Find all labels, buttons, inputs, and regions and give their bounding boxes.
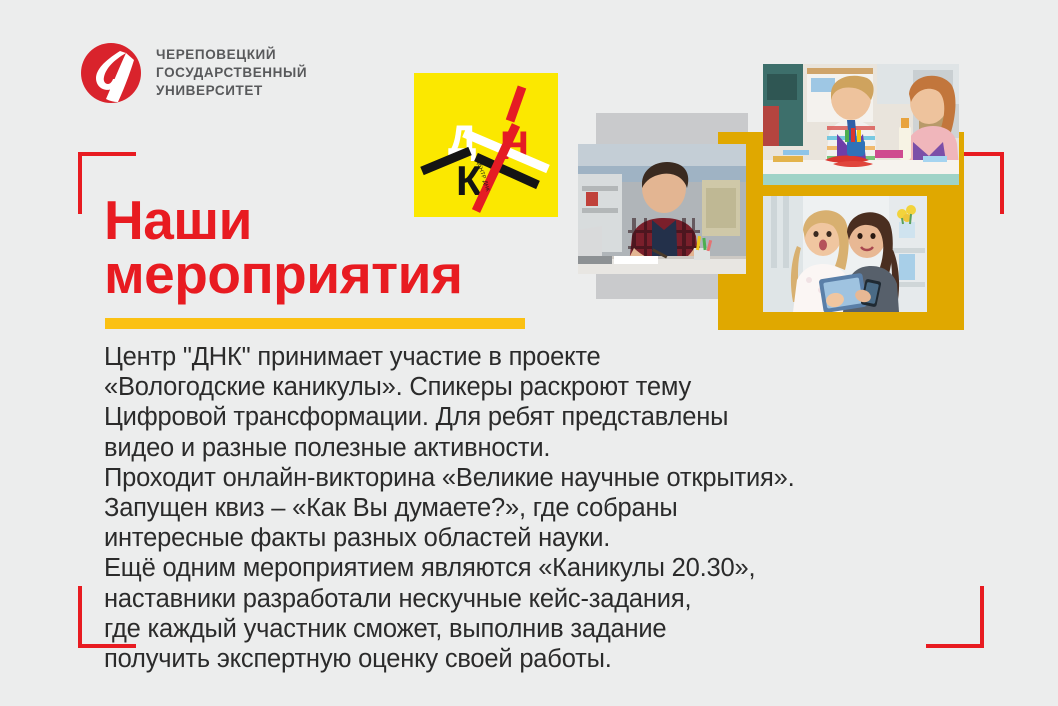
bracket-vertical-bar: [78, 586, 82, 648]
poster-canvas: ЧЕРЕПОВЕЦКИЙ ГОСУДАРСТВЕННЫЙ УНИВЕРСИТЕТ…: [0, 0, 1058, 706]
photo-girls-tablet: [763, 196, 927, 312]
page-title: Наши мероприятия: [104, 193, 624, 302]
title-underline-bar: [105, 318, 525, 329]
photo-girls-tablet-art: [763, 196, 927, 312]
bracket-vertical-bar: [980, 586, 984, 648]
photo-children-crafts: [763, 64, 959, 185]
body-text: Центр "ДНК" принимает участие в проекте …: [104, 342, 964, 674]
photo-children-crafts-art: [763, 64, 959, 185]
